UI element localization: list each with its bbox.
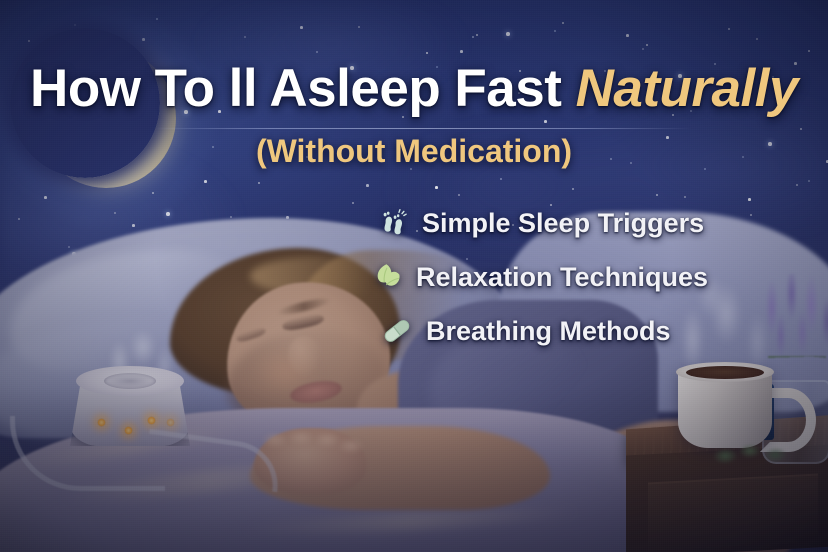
page-subtitle: (Without Medication) [0, 133, 828, 170]
list-item-label: Simple Sleep Triggers [422, 208, 704, 239]
headline-main: How To ll Asleep Fast [30, 59, 576, 118]
headline-accent: Naturally [576, 59, 798, 118]
list-item: Relaxation Techniques [370, 250, 702, 304]
pill-capsule-icon [380, 314, 414, 348]
page-title: How To ll Asleep Fast Naturally [0, 62, 828, 116]
text-overlay: How To ll Asleep Fast Naturally (Without… [0, 0, 828, 552]
sleep-tips-poster: How To ll Asleep Fast Naturally (Without… [0, 0, 828, 552]
list-item-label: Relaxation Techniques [416, 262, 708, 293]
list-item: Simple Sleep Triggers [376, 196, 702, 250]
title-divider [152, 128, 692, 129]
list-item: Breathing Methods [380, 304, 702, 358]
footprints-icon [376, 206, 410, 240]
benefits-list: Simple Sleep Triggers Relaxation Techniq… [372, 196, 702, 358]
list-item-label: Breathing Methods [426, 316, 671, 347]
leaf-icon [370, 260, 404, 294]
